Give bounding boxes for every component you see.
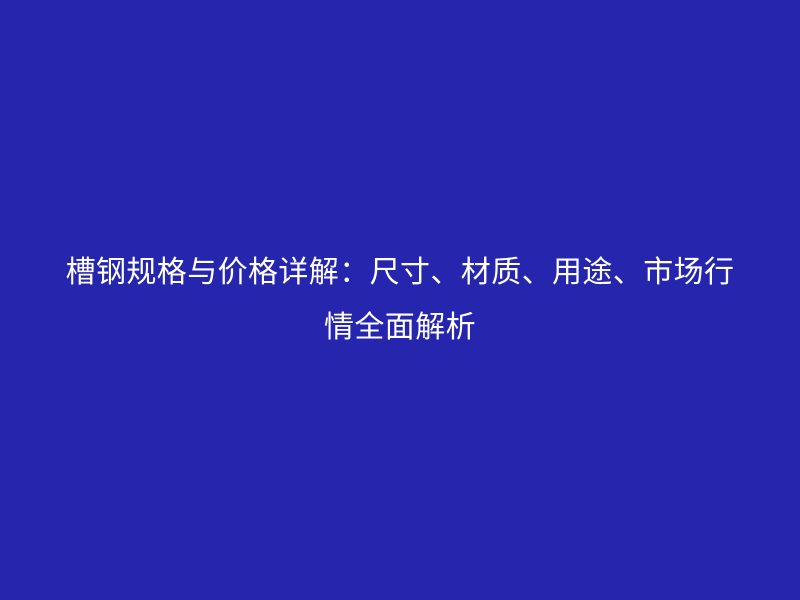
title-block: 槽钢规格与价格详解：尺寸、材质、用途、市场行情全面解析 xyxy=(55,245,745,355)
poster-canvas: 槽钢规格与价格详解：尺寸、材质、用途、市场行情全面解析 xyxy=(0,0,800,600)
page-title: 槽钢规格与价格详解：尺寸、材质、用途、市场行情全面解析 xyxy=(55,245,745,355)
